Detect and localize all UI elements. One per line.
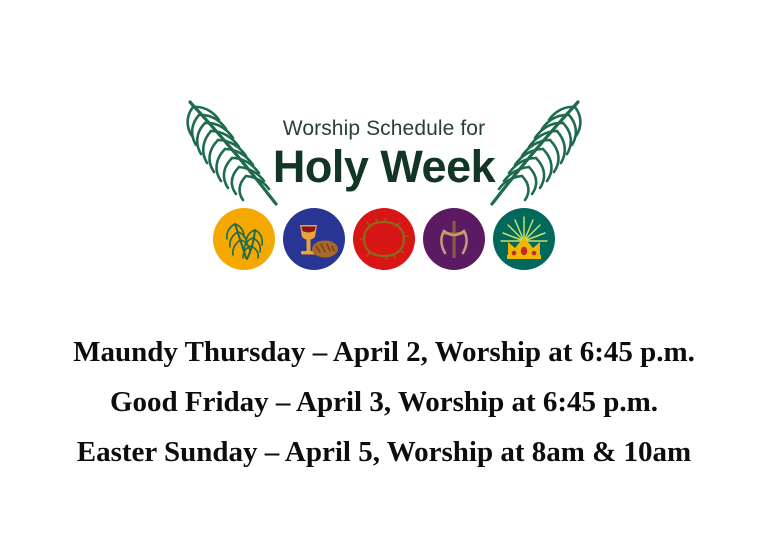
service-line: Maundy Thursday – April 2, Worship at 6:…	[0, 338, 768, 367]
palm-branch-icon	[213, 208, 275, 270]
service-line: Good Friday – April 3, Worship at 6:45 p…	[0, 388, 768, 417]
service-line: Easter Sunday – April 5, Worship at 8am …	[0, 438, 768, 467]
chalice-and-bread-icon	[283, 208, 345, 270]
holy-saturday-symbol	[423, 208, 485, 270]
maundy-thursday-symbol	[283, 208, 345, 270]
holy-week-poster: Worship Schedule for Holy Week	[0, 0, 768, 549]
poster-subtitle: Worship Schedule for	[184, 118, 584, 139]
easter-sunday-symbol	[493, 208, 555, 270]
palm-sunday-symbol	[213, 208, 275, 270]
crown-with-rays-icon	[493, 208, 555, 270]
good-friday-symbol	[353, 208, 415, 270]
title-block: Worship Schedule for Holy Week	[184, 118, 584, 190]
cross-with-shroud-icon	[423, 208, 485, 270]
symbol-row	[184, 208, 584, 270]
service-schedule: Maundy Thursday – April 2, Worship at 6:…	[0, 338, 768, 467]
crown-of-thorns-icon	[353, 208, 415, 270]
page-title: Holy Week	[184, 143, 584, 190]
header-graphic: Worship Schedule for Holy Week	[184, 96, 584, 276]
